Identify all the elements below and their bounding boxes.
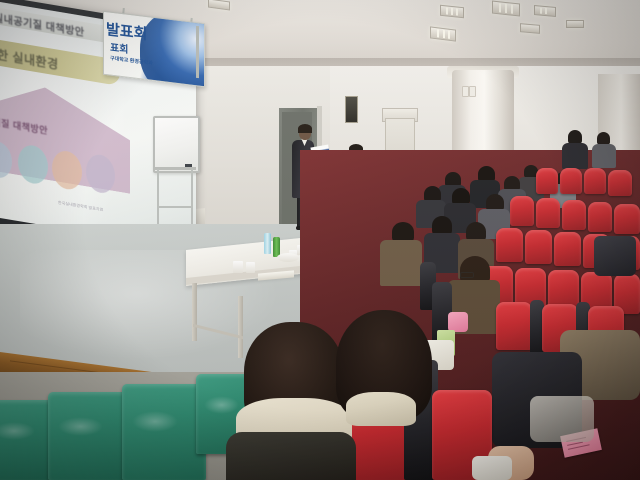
food-plate	[277, 253, 299, 262]
audience-member	[562, 143, 588, 169]
presenter-hair	[298, 124, 312, 133]
whiteboard-leg	[157, 169, 159, 225]
seminar-hall-photo: 실내공기질 대책방안 쾌적한 실내환경 실내공기질 대책방안 한국실내환경학회 …	[0, 0, 640, 480]
recessed-ceiling-light	[534, 5, 556, 17]
audience-member	[392, 222, 414, 242]
red-theatre-seat[interactable]	[614, 204, 640, 234]
attendee-sleeve	[472, 456, 512, 480]
banner-pole	[196, 26, 199, 78]
wall-mounted-speaker	[345, 96, 358, 123]
red-theatre-seat[interactable]	[536, 168, 558, 194]
whiteboard-marker-tray	[155, 167, 196, 170]
red-theatre-seat[interactable]	[560, 168, 582, 194]
red-theatre-seat[interactable]	[554, 232, 581, 266]
red-theatre-seat[interactable]	[496, 302, 532, 350]
red-theatre-seat[interactable]	[584, 168, 606, 194]
red-theatre-seat[interactable]	[496, 228, 523, 262]
red-theatre-seat[interactable]	[536, 198, 560, 228]
red-theatre-seat[interactable]	[588, 202, 612, 232]
red-theatre-seat[interactable]	[608, 170, 632, 196]
audience-coat	[226, 432, 356, 480]
table-leg	[192, 283, 197, 341]
sherpa-collar	[346, 392, 416, 426]
recessed-ceiling-light	[440, 5, 464, 19]
wall-switch-plate	[469, 86, 476, 97]
mobile-whiteboard	[153, 116, 200, 173]
paper-cup	[246, 262, 255, 273]
recessed-ceiling-light	[520, 23, 540, 34]
red-theatre-seat[interactable]	[562, 200, 586, 230]
pink-pouch	[448, 312, 468, 332]
whiteboard-crossbar	[157, 206, 193, 208]
table-leg	[238, 296, 243, 358]
green-vinyl-seat[interactable]	[48, 392, 130, 480]
audience-member	[568, 130, 582, 144]
recessed-ceiling-light	[566, 20, 584, 28]
plastic-bag	[530, 396, 594, 442]
wall-switch-plate	[462, 86, 469, 97]
green-vinyl-seat[interactable]	[122, 384, 206, 480]
audience-member	[592, 144, 616, 168]
water-bottle	[264, 233, 271, 254]
paper-cup	[233, 261, 243, 273]
wall-banner: 발표회 표회 구대학교 환경공학과	[103, 11, 205, 88]
audience-glasses	[460, 272, 474, 278]
whiteboard-marker	[185, 164, 192, 167]
banner-line-2: 표회	[110, 39, 128, 56]
audience-bag	[594, 236, 636, 276]
red-theatre-seat[interactable]	[510, 196, 534, 226]
whiteboard-leg	[191, 169, 193, 225]
red-theatre-seat[interactable]	[525, 230, 552, 264]
audience-member	[380, 240, 422, 286]
